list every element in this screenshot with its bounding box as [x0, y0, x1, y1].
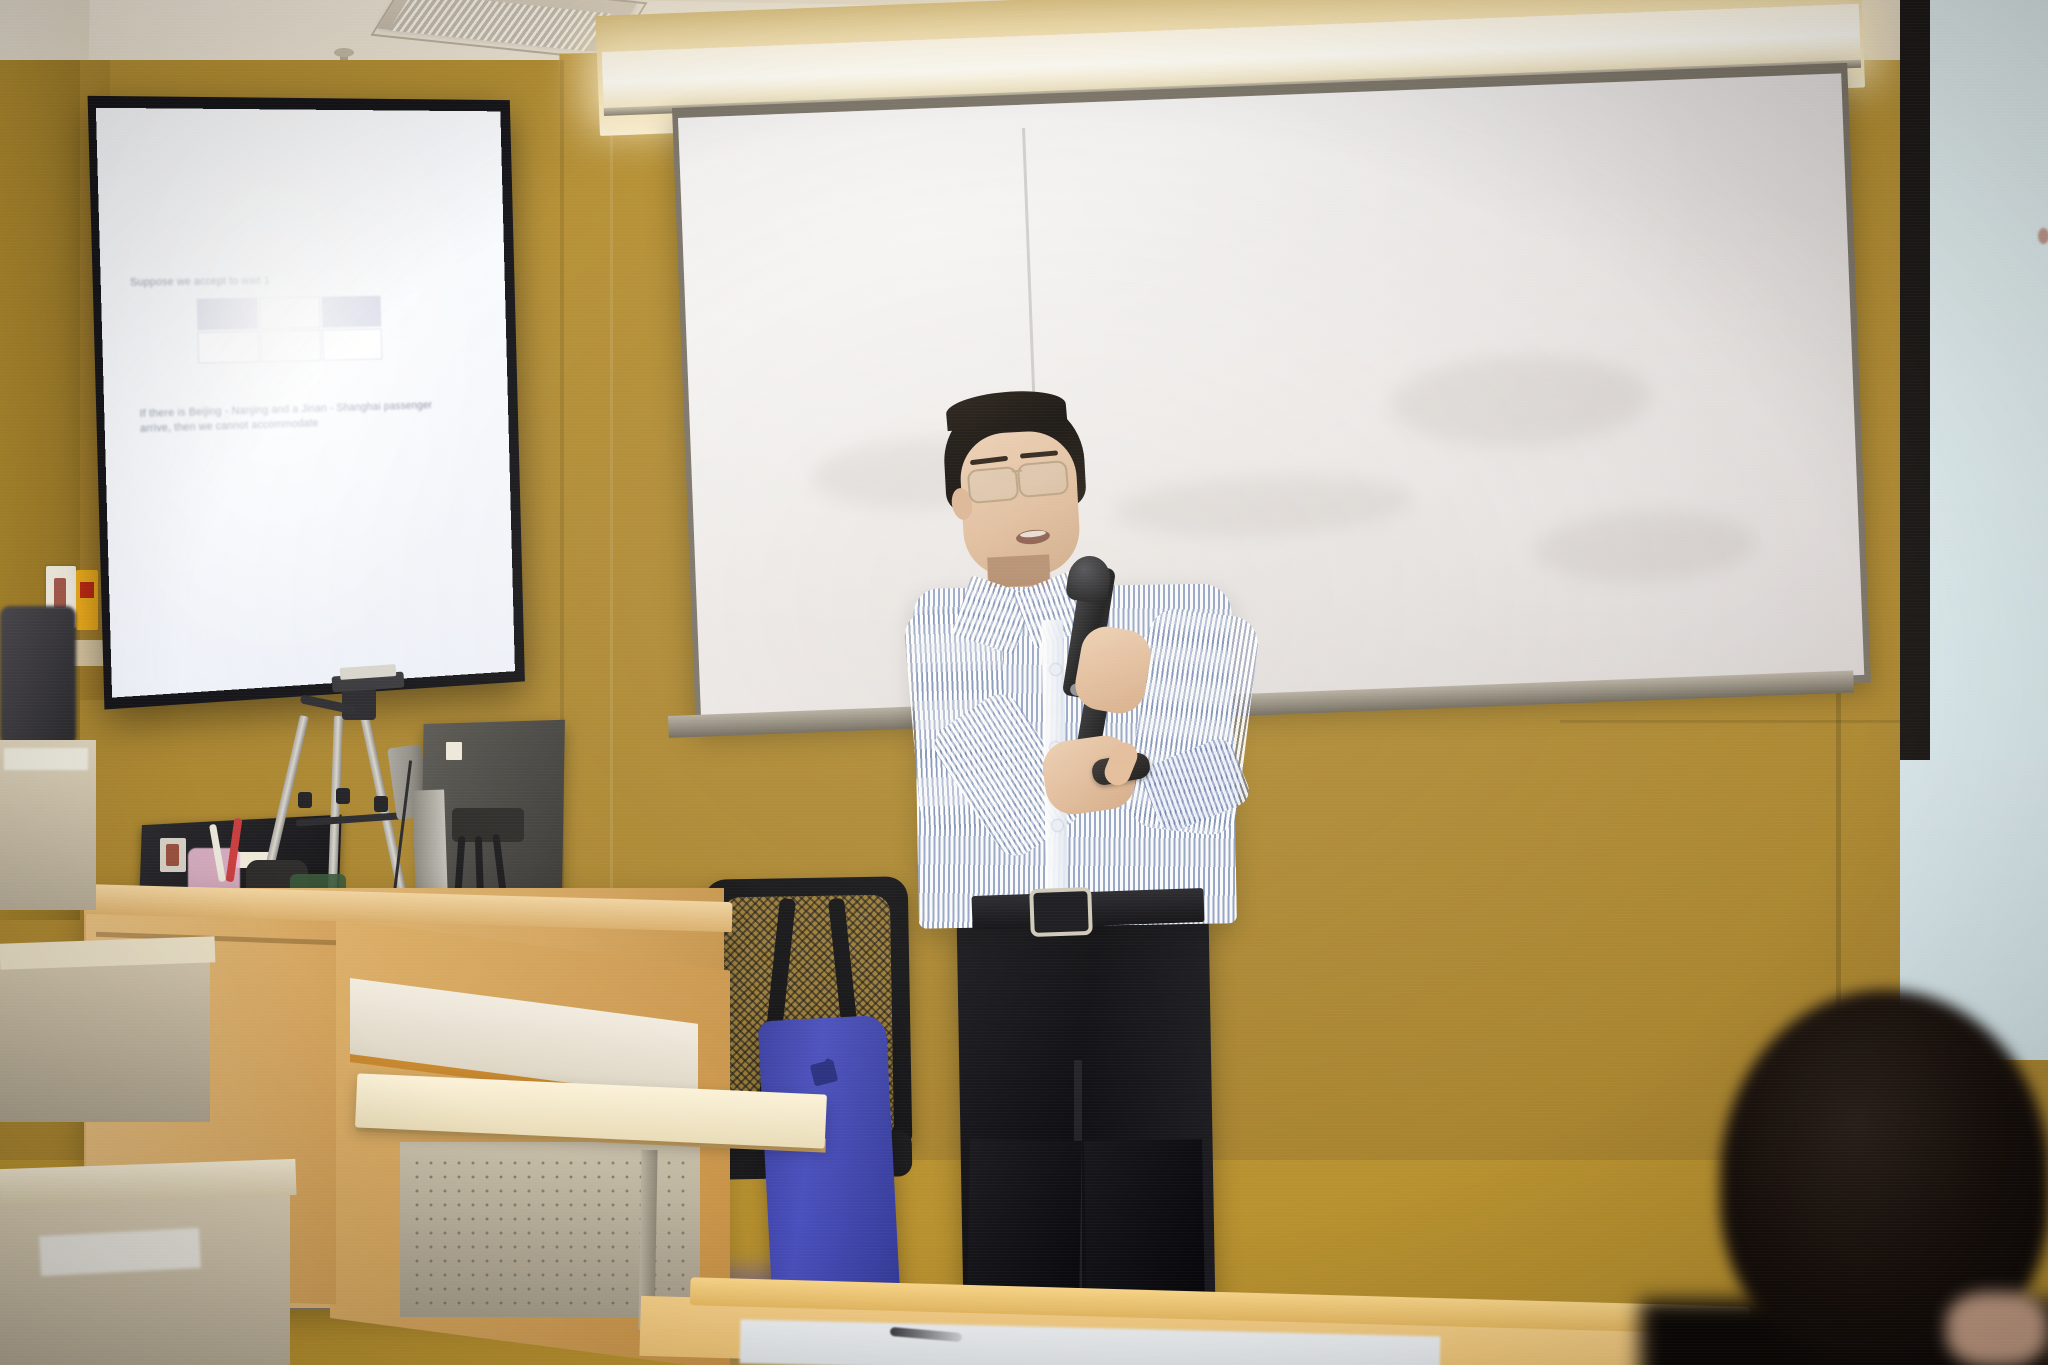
tripod-clamp[interactable]	[336, 788, 350, 804]
projection-screen[interactable]: Suppose we accept to wait 1 If there is …	[96, 108, 515, 698]
monitor-stand	[412, 789, 448, 900]
sprinkler-head	[334, 48, 354, 57]
safety-notice-pictogram	[54, 578, 66, 608]
slide-content: Suppose we accept to wait 1 If there is …	[96, 108, 515, 698]
foreground-desk-left-mid[interactable]	[0, 952, 210, 1122]
slide-table-cell	[260, 330, 321, 363]
laptop-sticker-mark	[166, 844, 179, 866]
slide-bullet-1: Suppose we accept to wait 1	[130, 272, 413, 290]
secondary-projection-panel	[1930, 0, 2048, 790]
shirt-button	[1052, 820, 1063, 831]
warning-sticker-mark	[80, 582, 94, 598]
slide-table-cell	[321, 296, 381, 328]
lecture-hall-photo: Suppose we accept to wait 1 If there is …	[0, 0, 2048, 1365]
slide-table-cell	[197, 331, 259, 364]
slide-table	[195, 294, 385, 366]
paper-sheet[interactable]	[4, 748, 88, 770]
monitor-label	[446, 742, 462, 760]
tripod-clamp[interactable]	[298, 792, 312, 808]
belt-buckle-icon	[1029, 887, 1093, 937]
tripod-clamp[interactable]	[374, 796, 388, 812]
whiteboard[interactable]	[678, 73, 1864, 719]
warning-sticker	[76, 570, 98, 630]
slide-table-cell	[197, 298, 259, 331]
slide-bullet-2: If there is Beijing - Nanjing and a Jina…	[139, 398, 449, 437]
slide-table-cell	[322, 329, 382, 361]
slide-table-cell	[260, 297, 321, 329]
shirt-button	[1050, 664, 1061, 675]
audience-member-neck	[1946, 1292, 2048, 1365]
panel-marking	[2038, 228, 2048, 244]
eyeglasses-icon	[1017, 460, 1070, 498]
foreground-chair-left[interactable]	[0, 606, 76, 746]
paper-sheet[interactable]	[39, 1228, 201, 1276]
